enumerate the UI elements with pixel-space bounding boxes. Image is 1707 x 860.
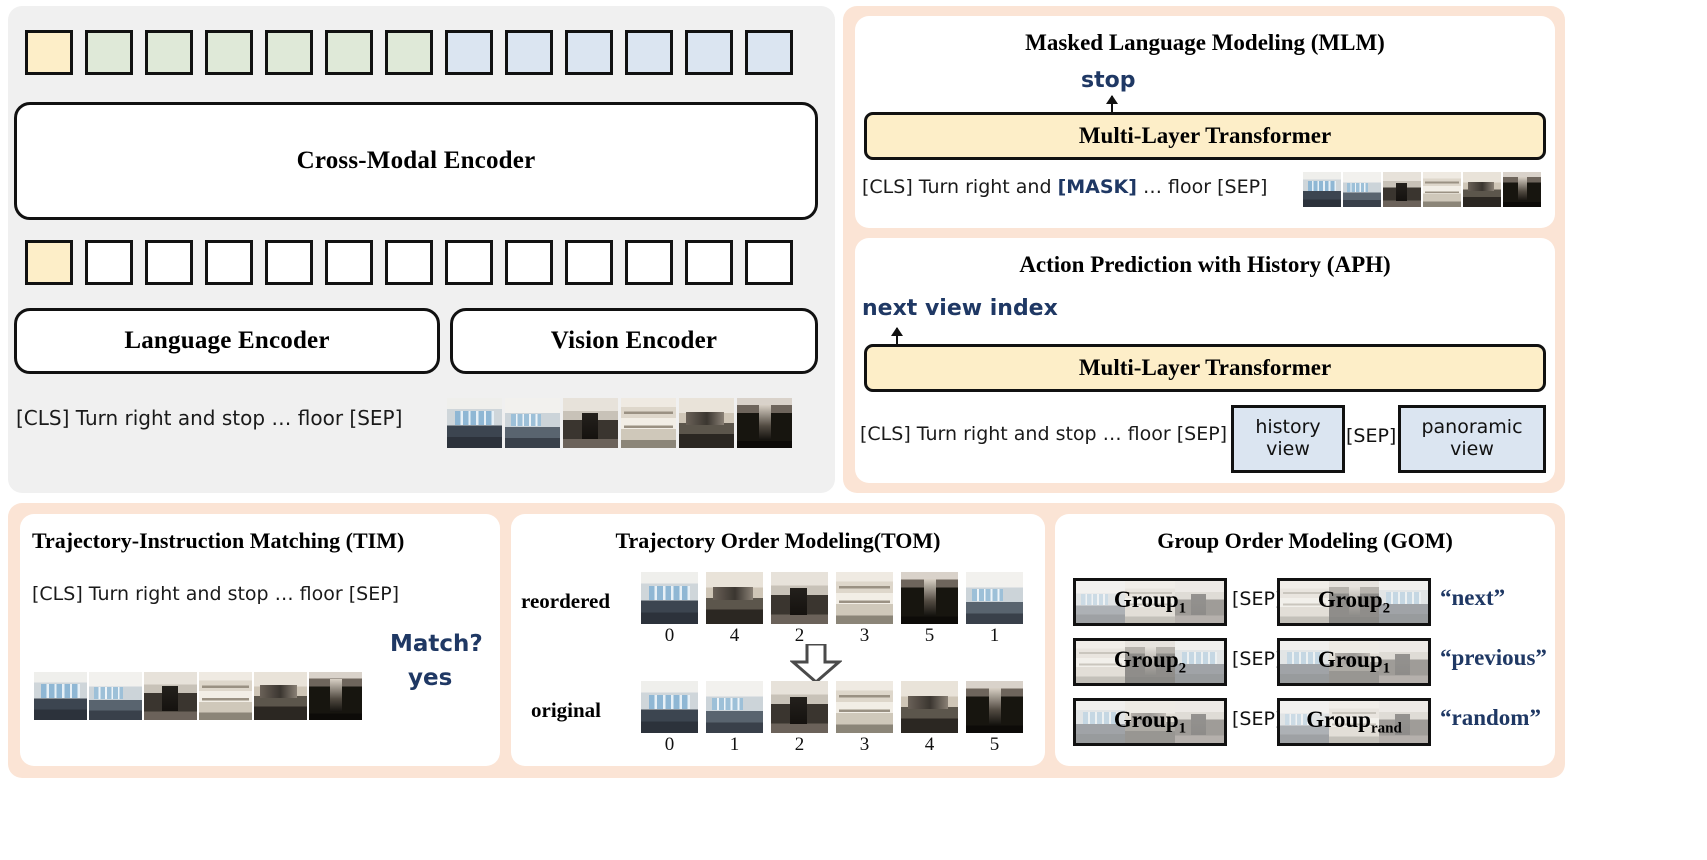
aph-panoramic-view-line2: view — [1450, 439, 1494, 461]
mlm-transformer-label: Multi-Layer Transformer — [1079, 123, 1331, 149]
gom-title: Group Order Modeling (GOM) — [1055, 528, 1555, 554]
token-plain — [385, 240, 433, 285]
mlm-title: Masked Language Modeling (MLM) — [855, 30, 1555, 56]
token-text — [385, 30, 433, 75]
mlm-sentence-before: [CLS] Turn right and — [862, 176, 1058, 198]
group-chip-subscript: 2 — [1383, 600, 1391, 616]
trajectory-thumbnail — [771, 681, 828, 733]
token-plain — [205, 240, 253, 285]
group-chip-subscript: rand — [1371, 720, 1402, 736]
trajectory-thumbnail — [1423, 172, 1461, 207]
trajectory-thumbnail — [679, 398, 734, 448]
trajectory-index-label: 2 — [771, 734, 828, 756]
language-encoder-label: Language Encoder — [124, 327, 329, 355]
mlm-sentence-after: … floor [SEP] — [1137, 176, 1268, 198]
token-plain — [85, 240, 133, 285]
encoder-output-token-row — [25, 240, 793, 285]
gom-left-group-2: Group2 — [1073, 638, 1227, 686]
trajectory-index-label: 1 — [966, 625, 1023, 647]
group-chip-label: Group2 — [1114, 647, 1186, 678]
trajectory-thumbnail — [641, 681, 698, 733]
tim-title: Trajectory-Instruction Matching (TIM) — [32, 528, 404, 554]
mlm-input-sentence: [CLS] Turn right and [MASK] … floor [SEP… — [862, 176, 1267, 198]
group-chip-label: Group2 — [1318, 587, 1390, 618]
tim-sentence: [CLS] Turn right and stop … floor [SEP] — [32, 583, 399, 605]
tim-question-label: Match? — [390, 631, 483, 657]
token-text — [85, 30, 133, 75]
trajectory-thumbnail — [1503, 172, 1541, 207]
tim-answer-label: yes — [408, 665, 452, 691]
token-vision — [745, 30, 793, 75]
group-chip-subscript: 1 — [1179, 720, 1187, 736]
aph-input-sentence: [CLS] Turn right and stop … floor [SEP] — [860, 423, 1227, 445]
token-text — [265, 30, 313, 75]
aph-arrow-icon — [896, 328, 898, 345]
gom-separator-3: [SEP] — [1232, 708, 1282, 730]
mlm-prediction-label: stop — [1081, 68, 1135, 93]
tom-reordered-label: reordered — [521, 589, 610, 614]
trajectory-index-label: 3 — [836, 734, 893, 756]
gom-order-label-3: “random” — [1440, 705, 1541, 731]
tom-title: Trajectory Order Modeling(TOM) — [511, 528, 1045, 554]
tom-original-thumbnails — [641, 681, 1023, 733]
gom-separator-2: [SEP] — [1232, 648, 1282, 670]
tim-trajectory-thumbnails — [34, 672, 362, 720]
trajectory-thumbnail — [309, 672, 362, 720]
trajectory-thumbnail — [1383, 172, 1421, 207]
token-plain — [745, 240, 793, 285]
gom-right-group-2: Group1 — [1277, 638, 1431, 686]
trajectory-thumbnail — [89, 672, 142, 720]
aph-transformer-label: Multi-Layer Transformer — [1079, 355, 1331, 381]
trajectory-thumbnail — [966, 572, 1023, 624]
trajectory-thumbnail — [563, 398, 618, 448]
token-plain — [565, 240, 613, 285]
gom-separator-1: [SEP] — [1232, 588, 1282, 610]
trajectory-thumbnail — [34, 672, 87, 720]
trajectory-thumbnail — [1343, 172, 1381, 207]
trajectory-thumbnail — [641, 572, 698, 624]
mlm-arrow-icon — [1111, 96, 1113, 113]
gom-order-label-1: “next” — [1440, 585, 1505, 611]
trajectory-index-label: 0 — [641, 734, 698, 756]
gom-order-label-2: “previous” — [1440, 645, 1547, 671]
gom-right-group-1: Group2 — [1277, 578, 1431, 626]
cross-modal-encoder-box: Cross-Modal Encoder — [14, 102, 818, 220]
cross-modal-encoder-label: Cross-Modal Encoder — [297, 147, 536, 175]
token-cls — [25, 240, 73, 285]
trajectory-thumbnail — [144, 672, 197, 720]
trajectory-index-label: 4 — [706, 625, 763, 647]
aph-panoramic-view-line1: panoramic — [1421, 417, 1522, 439]
trajectory-thumbnail — [621, 398, 676, 448]
trajectory-index-label: 1 — [706, 734, 763, 756]
token-vision — [625, 30, 673, 75]
vision-encoder-box: Vision Encoder — [450, 308, 818, 374]
trajectory-thumbnail — [1303, 172, 1341, 207]
trajectory-thumbnail — [447, 398, 502, 448]
group-chip-subscript: 1 — [1383, 660, 1391, 676]
token-plain — [265, 240, 313, 285]
trajectory-index-label: 0 — [641, 625, 698, 647]
language-encoder-box: Language Encoder — [14, 308, 440, 374]
aph-history-view-line1: history — [1255, 417, 1320, 439]
token-plain — [685, 240, 733, 285]
trajectory-thumbnail — [737, 398, 792, 448]
trajectory-thumbnail — [901, 572, 958, 624]
group-chip-subscript: 2 — [1179, 660, 1187, 676]
token-plain — [625, 240, 673, 285]
figure-canvas: Cross-Modal Encoder Language Encoder Vis… — [0, 0, 1707, 860]
token-plain — [445, 240, 493, 285]
trajectory-thumbnail — [771, 572, 828, 624]
trajectory-thumbnail — [836, 572, 893, 624]
trajectory-thumbnail — [254, 672, 307, 720]
group-chip-label: Group1 — [1318, 647, 1390, 678]
tom-transform-arrow-icon — [790, 644, 842, 684]
aph-title: Action Prediction with History (APH) — [855, 252, 1555, 278]
token-cls — [25, 30, 73, 75]
aph-prediction-label: next view index — [862, 296, 1058, 321]
cross-modal-token-row — [25, 30, 793, 75]
aph-history-view-box: history view — [1231, 405, 1345, 473]
mlm-transformer-box: Multi-Layer Transformer — [864, 112, 1546, 160]
trajectory-thumbnail — [706, 681, 763, 733]
trajectory-thumbnail — [199, 672, 252, 720]
architecture-trajectory-thumbnails — [447, 398, 792, 448]
token-plain — [505, 240, 553, 285]
mlm-trajectory-thumbnails — [1303, 172, 1541, 207]
trajectory-thumbnail — [901, 681, 958, 733]
mlm-mask-token: [MASK] — [1058, 176, 1137, 198]
aph-transformer-box: Multi-Layer Transformer — [864, 344, 1546, 392]
aph-history-view-line2: view — [1266, 439, 1310, 461]
trajectory-index-label: 5 — [901, 625, 958, 647]
gom-left-group-1: Group1 — [1073, 578, 1227, 626]
gom-right-group-3: Grouprand — [1277, 698, 1431, 746]
trajectory-thumbnail — [836, 681, 893, 733]
token-vision — [505, 30, 553, 75]
token-text — [145, 30, 193, 75]
token-text — [325, 30, 373, 75]
trajectory-index-label: 5 — [966, 734, 1023, 756]
tom-original-label: original — [531, 698, 601, 723]
token-vision — [565, 30, 613, 75]
trajectory-thumbnail — [505, 398, 560, 448]
aph-separator: [SEP] — [1346, 425, 1396, 447]
group-chip-subscript: 1 — [1179, 600, 1187, 616]
group-chip-label: Group1 — [1114, 707, 1186, 738]
tom-reordered-thumbnails — [641, 572, 1023, 624]
gom-left-group-3: Group1 — [1073, 698, 1227, 746]
trajectory-index-label: 4 — [901, 734, 958, 756]
trajectory-index-label: 3 — [836, 625, 893, 647]
token-vision — [445, 30, 493, 75]
token-plain — [145, 240, 193, 285]
trajectory-thumbnail — [1463, 172, 1501, 207]
trajectory-thumbnail — [706, 572, 763, 624]
token-vision — [685, 30, 733, 75]
token-plain — [325, 240, 373, 285]
aph-panoramic-view-box: panoramic view — [1398, 405, 1546, 473]
group-chip-label: Group1 — [1114, 587, 1186, 618]
architecture-input-text: [CLS] Turn right and stop … floor [SEP] — [16, 406, 402, 430]
trajectory-thumbnail — [966, 681, 1023, 733]
token-text — [205, 30, 253, 75]
group-chip-label: Grouprand — [1306, 707, 1402, 738]
vision-encoder-label: Vision Encoder — [551, 327, 717, 355]
